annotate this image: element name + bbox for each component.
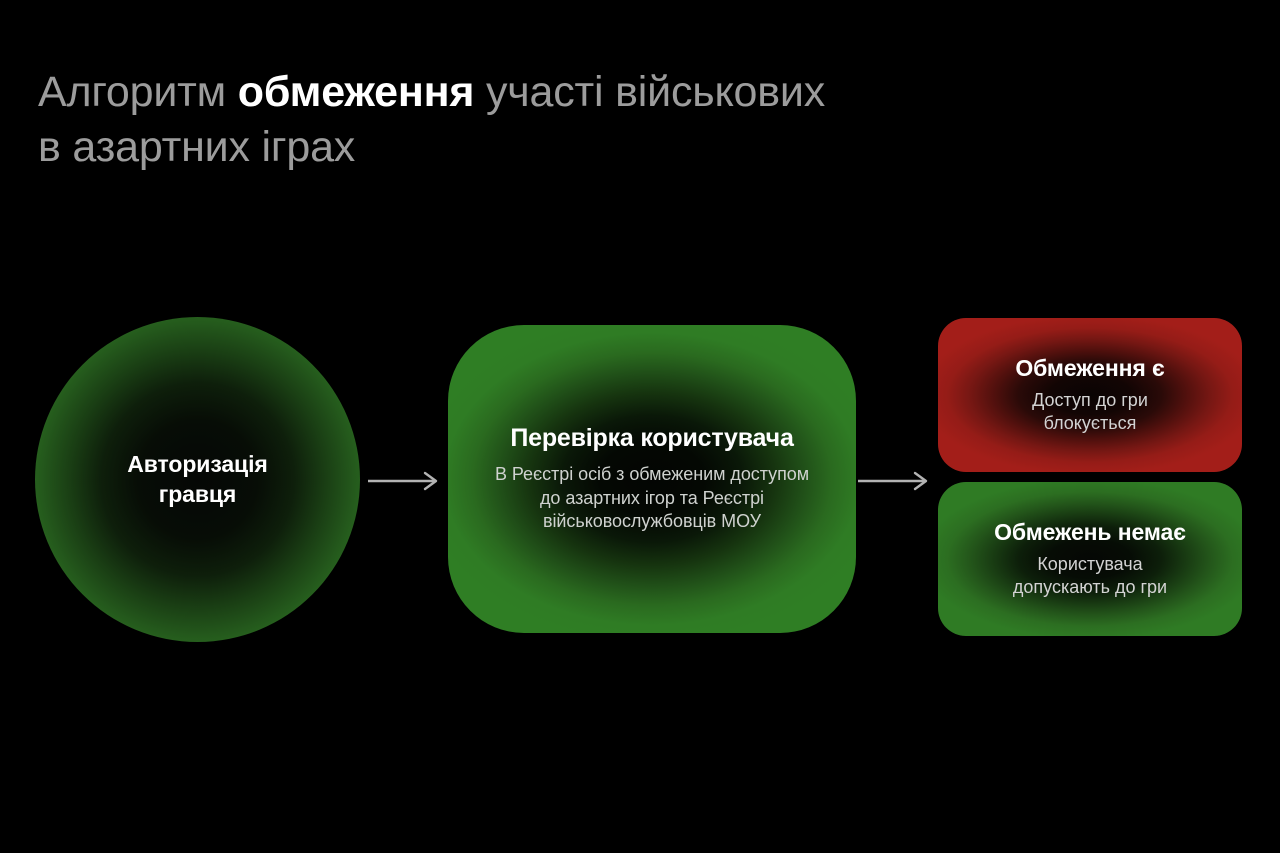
node-user-check-title: Перевірка користувача [510,424,793,453]
node-user-check-body: В Реєстрі осіб з обмеженим доступом до а… [486,463,818,534]
arrow-right-icon-2 [858,468,932,494]
node-restriction-exists-title: Обмеження є [1015,355,1164,382]
node-user-check: Перевірка користувача В Реєстрі осіб з о… [448,325,856,633]
node-no-restriction-title: Обмежень немає [994,519,1186,546]
flow-diagram: Авторизаціягравця Перевірка користувача … [0,0,1280,853]
arrow-right-icon-1 [368,468,442,494]
node-no-restriction-body: Користувачадопускають до гри [1013,553,1167,600]
node-no-restriction: Обмежень немає Користувачадопускають до … [938,482,1242,636]
node-authorization: Авторизаціягравця [35,317,360,642]
node-restriction-exists: Обмеження є Доступ до гриблокується [938,318,1242,472]
node-restriction-exists-body: Доступ до гриблокується [1032,389,1148,436]
node-authorization-title: Авторизаціягравця [127,450,267,510]
slide-root: Алгоритм обмеження участі військовихв аз… [0,0,1280,853]
